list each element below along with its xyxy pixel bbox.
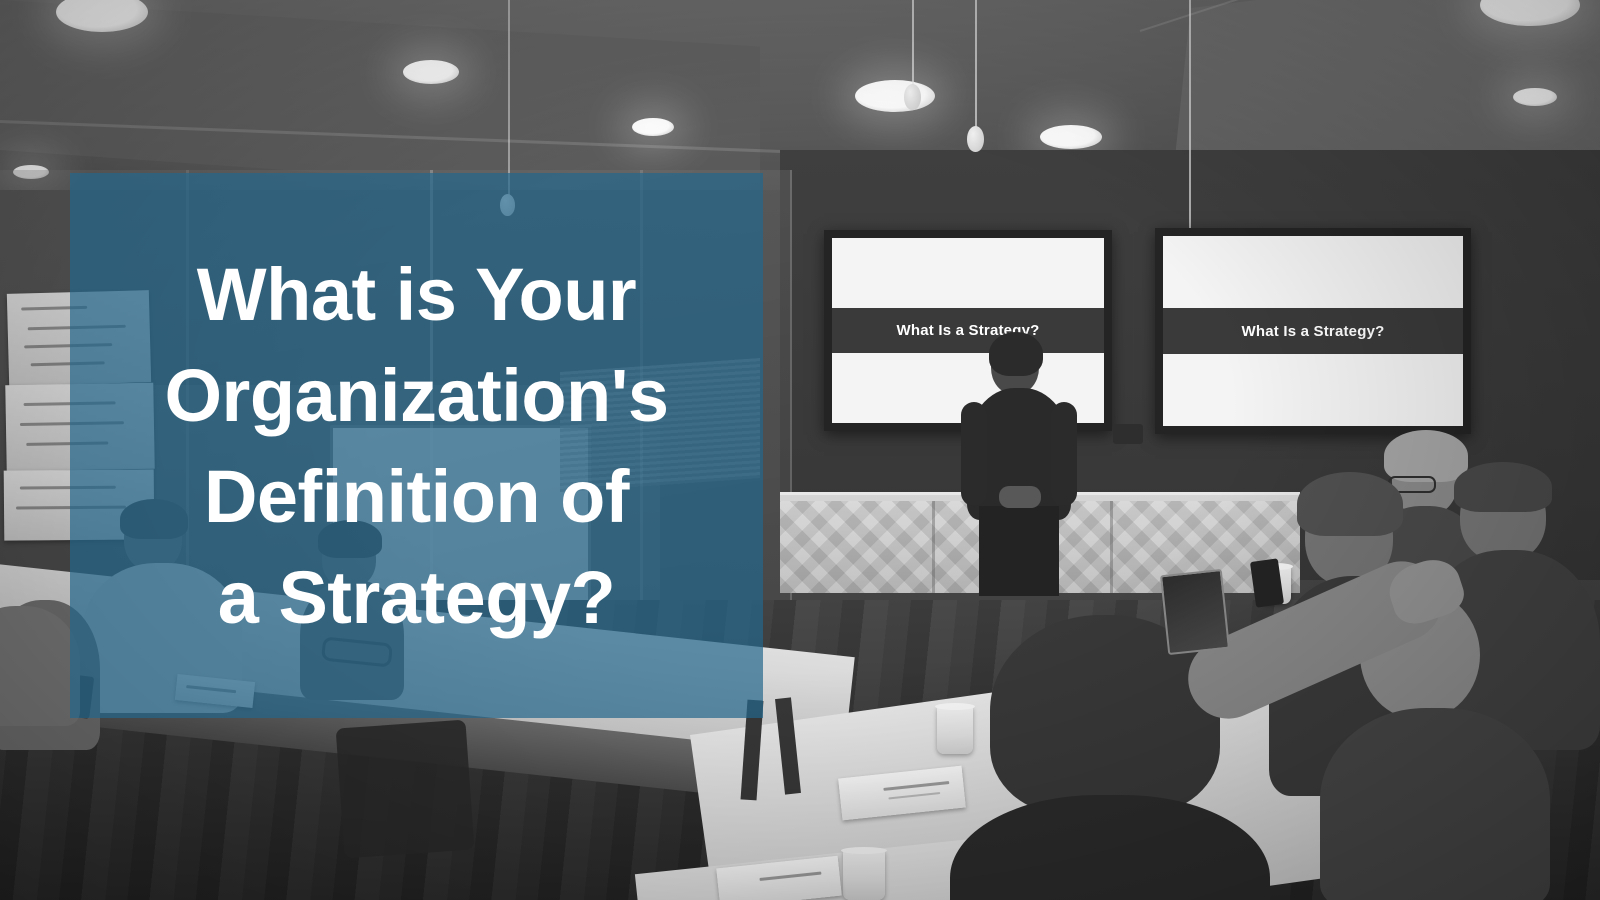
tent-card-text <box>888 792 940 799</box>
ceiling-light-icon <box>1513 88 1557 106</box>
left-slide-title: What Is a Strategy? <box>832 308 1104 352</box>
microphone-cable <box>1189 0 1191 250</box>
audience-hair <box>1384 430 1468 482</box>
microphone-icon <box>967 126 984 152</box>
audience-torso <box>1320 708 1550 900</box>
slide-top-region <box>832 238 1104 308</box>
blue-title-panel: What is Your Organization's Definition o… <box>70 173 763 718</box>
page-title: What is Your Organization's Definition o… <box>70 244 763 648</box>
ceiling-light-icon <box>403 60 459 84</box>
audience-hair <box>1454 462 1552 512</box>
coffee-cup <box>843 850 885 900</box>
credenza-seam <box>932 501 935 593</box>
tent-card-text <box>883 781 949 791</box>
microphone-cable <box>508 0 510 196</box>
left-display-slide: What Is a Strategy? <box>832 238 1104 423</box>
title-line-3: Definition of <box>78 446 755 547</box>
image-canvas: What Is a Strategy? What Is a Strategy? <box>0 0 1600 900</box>
slide-top-region <box>1163 236 1463 308</box>
microphone-cable <box>912 0 914 86</box>
microphone-cable <box>975 0 977 128</box>
tablet-device <box>1160 569 1230 655</box>
chair <box>336 720 475 859</box>
right-display-slide: What Is a Strategy? <box>1163 236 1463 426</box>
presenter-hands <box>999 486 1041 508</box>
right-display: What Is a Strategy? <box>1155 228 1471 434</box>
ceiling-light-icon <box>855 80 935 112</box>
presenter-hair <box>989 332 1043 376</box>
title-line-1: What is Your <box>78 244 755 345</box>
credenza-seam <box>1110 501 1113 593</box>
ceiling-light-icon <box>632 118 674 136</box>
microphone-icon <box>904 84 921 110</box>
title-line-2: Organization's <box>78 345 755 446</box>
title-line-4: a Strategy? <box>78 547 755 648</box>
ceiling-light-icon <box>1040 125 1102 149</box>
presenter-arm-left <box>961 402 987 506</box>
presenter-skirt <box>979 506 1059 596</box>
left-display: What Is a Strategy? <box>824 230 1112 431</box>
right-slide-title: What Is a Strategy? <box>1163 308 1463 354</box>
coffee-cup <box>937 706 973 754</box>
tent-card-text <box>759 872 821 881</box>
wall-camera-icon <box>1113 424 1143 444</box>
audience-hair <box>1297 472 1403 536</box>
presenter-arm-right <box>1051 402 1077 506</box>
slide-bottom-region <box>1163 354 1463 426</box>
